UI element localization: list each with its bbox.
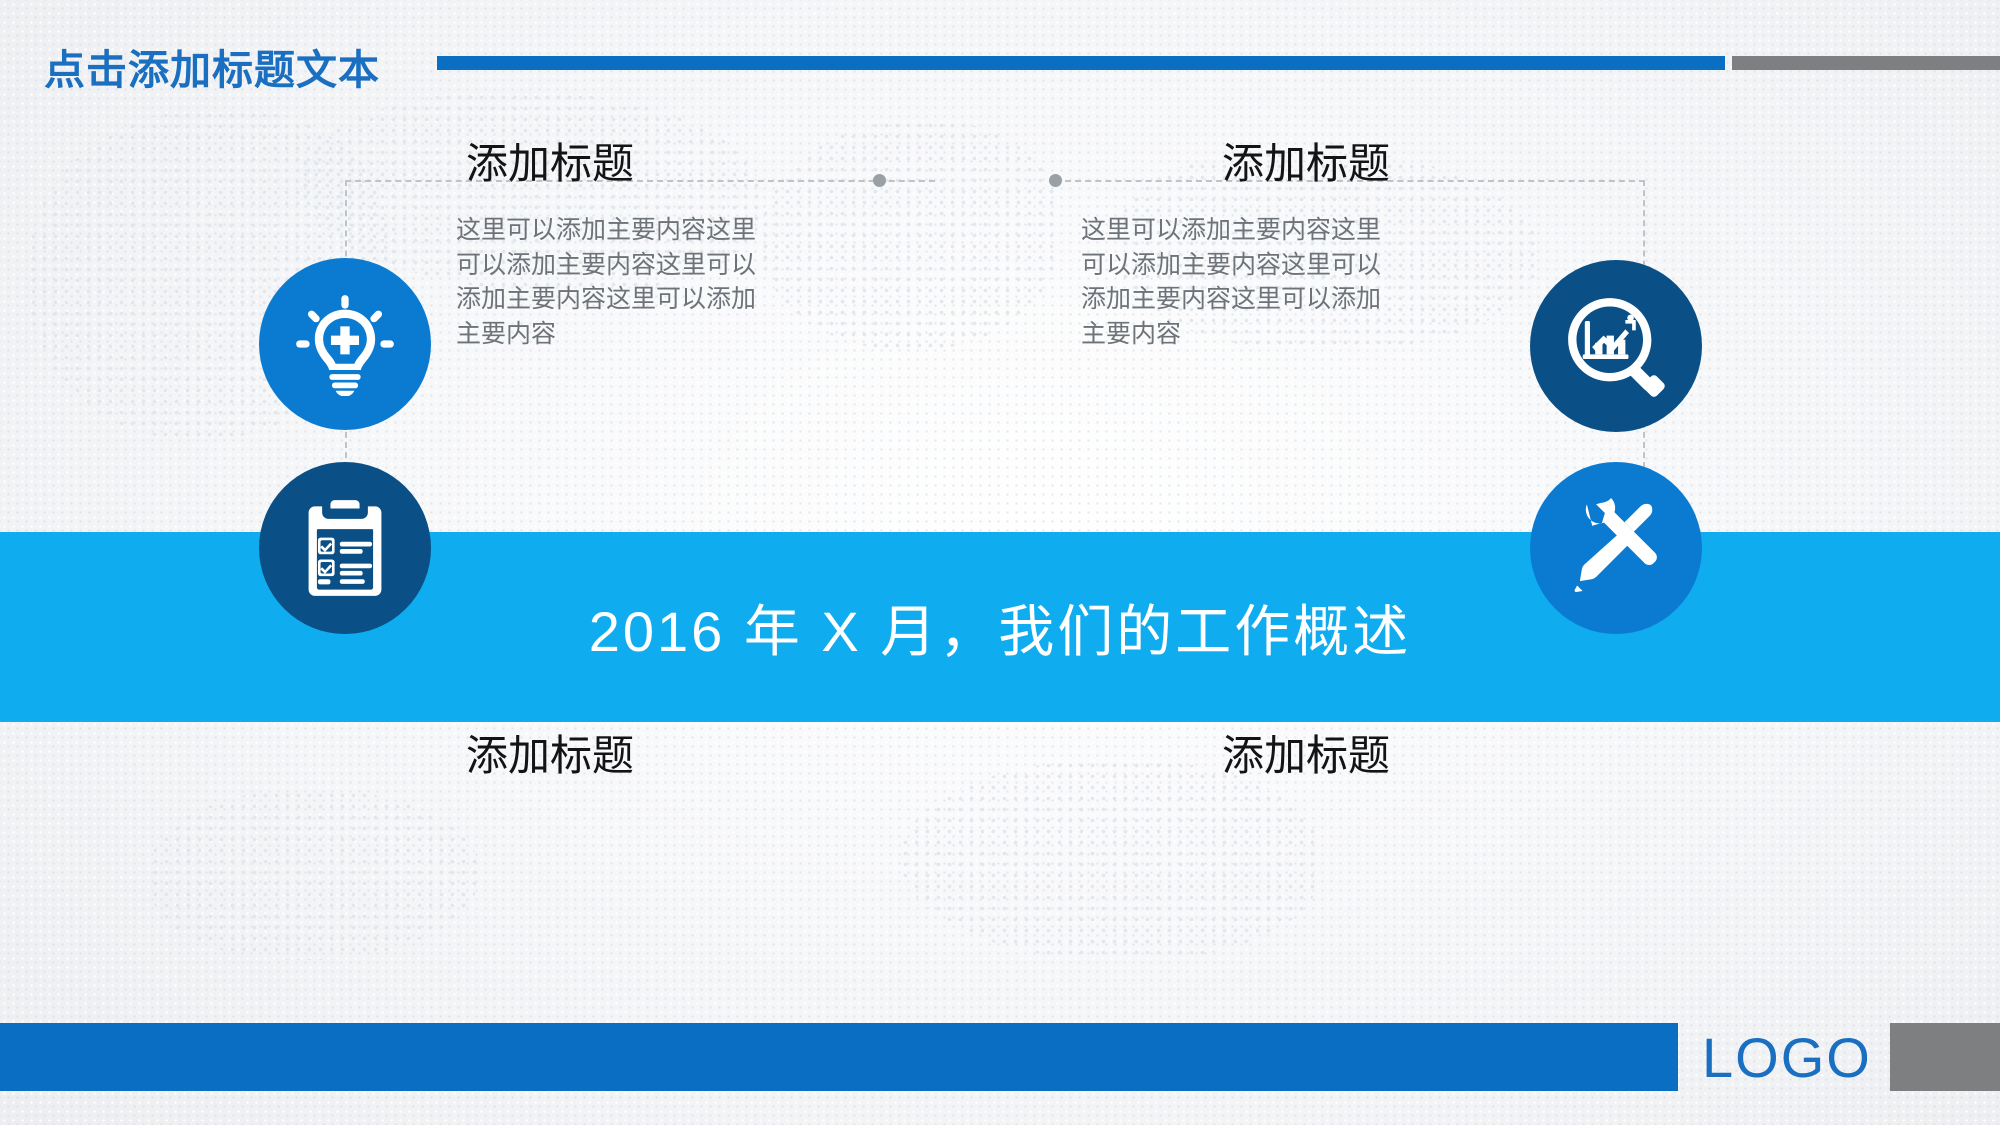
header-rule-gray (1732, 56, 2000, 70)
footer-bar (0, 1023, 1678, 1091)
connector-dot-top-right (1049, 174, 1062, 187)
world-map-dots-region (900, 760, 1320, 960)
quadrant-body-top-left: 这里可以添加主要内容这里 可以添加主要内容这里可以 添加主要内容这里可以添加 主… (456, 213, 828, 351)
footer-logo: LOGO (1702, 1023, 1872, 1091)
quadrant-title-top-right: 添加标题 (1222, 130, 1390, 191)
connector-dot-top-left (873, 174, 886, 187)
quadrant-title-bottom-right: 添加标题 (1222, 722, 1390, 783)
quadrant-body-top-right: 这里可以添加主要内容这里 可以添加主要内容这里可以 添加主要内容这里可以添加 主… (1081, 213, 1453, 351)
header-rule-blue (437, 56, 1725, 70)
wrench-screwdriver-icon (1530, 462, 1702, 634)
footer-gray-block (1890, 1023, 2000, 1091)
quadrant-title-top-left: 添加标题 (466, 130, 634, 191)
magnifier-chart-icon (1530, 260, 1702, 432)
slide-canvas: 点击添加标题文本 添加标题 添加标题 添加标题 添加标题 这里可以添加主要内容这… (0, 0, 2000, 1125)
quadrant-title-bottom-left: 添加标题 (466, 722, 634, 783)
page-title: 点击添加标题文本 (44, 36, 380, 96)
world-map-dots-region (150, 790, 480, 960)
clipboard-checklist-icon (259, 462, 431, 634)
lightbulb-plus-icon (259, 258, 431, 430)
